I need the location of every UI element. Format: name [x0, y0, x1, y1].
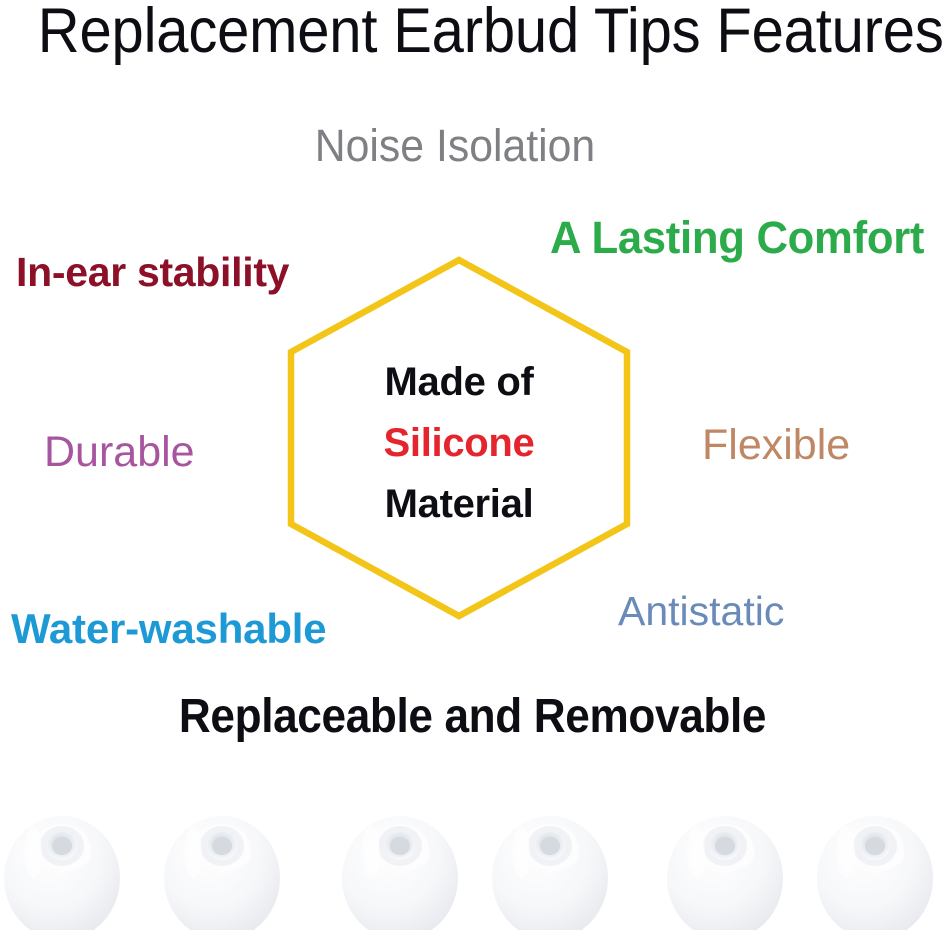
earbud-tips-image-row [0, 806, 945, 943]
earbud-tip-image [341, 806, 459, 930]
center-line-material: Material [282, 474, 636, 535]
feature-label-replaceable-and-removable: Replaceable and Removable [38, 692, 907, 742]
earbud-tip-image [3, 806, 121, 930]
hexagon-badge: Made of Silicone Material [282, 252, 636, 624]
feature-label-antistatic: Antistatic [618, 590, 784, 633]
center-line-made-of: Made of [282, 352, 636, 413]
feature-label-durable: Durable [44, 430, 195, 475]
feature-label-noise-isolation: Noise Isolation [23, 122, 888, 169]
feature-label-water-washable: Water-washable [11, 607, 326, 651]
page-title: Replacement Earbud Tips Features [38, 0, 907, 66]
feature-label-in-ear-stability: In-ear stability [16, 251, 289, 294]
center-line-silicone: Silicone [282, 413, 636, 474]
earbud-tips-features-infographic: Replacement Earbud Tips Features Noise I… [0, 0, 945, 943]
earbud-tip-image [491, 806, 609, 930]
earbud-tip-image [163, 806, 281, 930]
feature-label-flexible: Flexible [702, 423, 850, 468]
earbud-tip-image [816, 806, 934, 930]
hexagon-center-text: Made of Silicone Material [282, 352, 636, 535]
earbud-tip-image [666, 806, 784, 930]
